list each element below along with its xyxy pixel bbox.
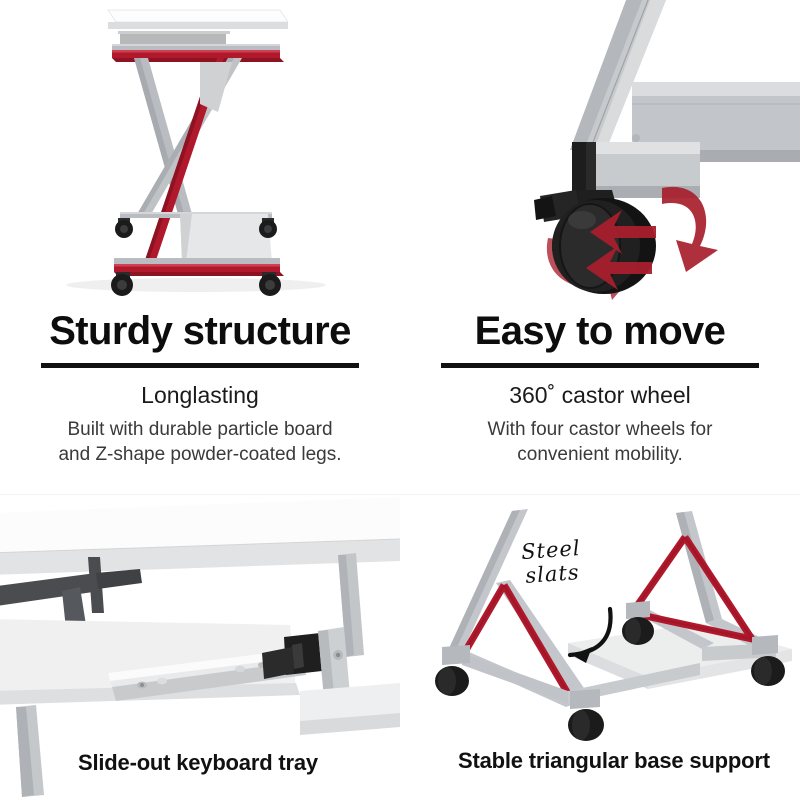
steel-slats-annotation: Steel slats [520, 537, 583, 588]
castor-closeup-illustration [400, 0, 800, 300]
photo-desk-side-view [0, 0, 400, 300]
caster-wheel [568, 689, 604, 741]
desk-side-view-illustration [0, 0, 400, 300]
feature-body: Built with durable particle board and Z-… [25, 417, 375, 468]
feature-block-easy-to-move: Easy to move 360˚ castor wheel With four… [400, 300, 800, 490]
annotation-line-2: slats [525, 560, 581, 588]
caster-wheel [622, 601, 654, 645]
feature-body-line-2: and Z-shape powder-coated legs. [58, 444, 341, 465]
heading-rule [441, 363, 759, 368]
feature-subheading: 360˚ castor wheel [400, 382, 800, 408]
feature-block-sturdy-structure: Sturdy structure Longlasting Built with … [0, 300, 400, 490]
heading-rule [41, 363, 359, 368]
feature-body-line-1: Built with durable particle board [67, 419, 332, 440]
feature-subheading: Longlasting [0, 382, 400, 408]
feature-sheet: Sturdy structure Longlasting Built with … [0, 0, 800, 800]
feature-body: With four castor wheels for convenient m… [425, 417, 775, 468]
photo-castor-closeup [400, 0, 800, 300]
feature-body-line-1: With four castor wheels for [488, 419, 713, 440]
caption-keyboard-tray: Slide-out keyboard tray [78, 750, 318, 776]
feature-body-line-2: convenient mobility. [517, 444, 682, 465]
caption-triangular-base: Stable triangular base support [458, 748, 770, 774]
feature-heading: Sturdy structure [0, 300, 400, 353]
feature-heading: Easy to move [400, 300, 800, 353]
